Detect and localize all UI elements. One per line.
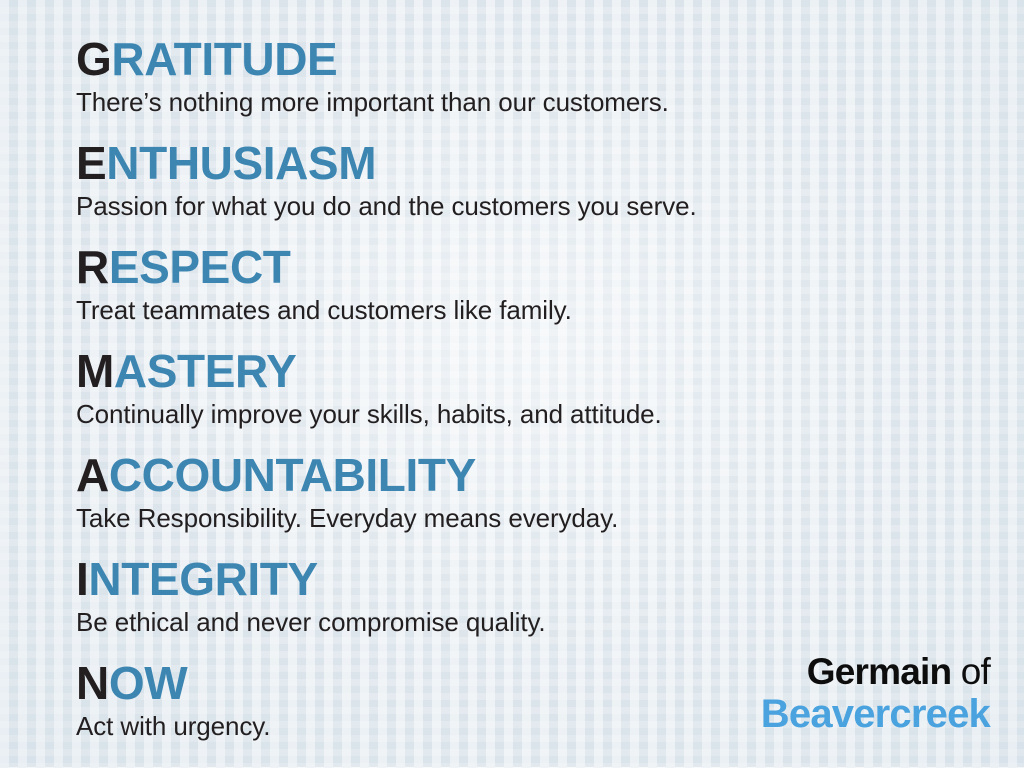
value-description-enthusiasm: Passion for what you do and the customer… [76, 190, 697, 222]
value-block-mastery: MASTERY Continually improve your skills,… [76, 346, 697, 430]
value-heading-enthusiasm: ENTHUSIASM [76, 138, 697, 188]
value-remaining-letters: RATITUDE [111, 33, 337, 85]
value-block-now: NOW Act with urgency. [76, 658, 697, 742]
slide-canvas: GRATITUDE There’s nothing more important… [0, 0, 1024, 768]
logo-brand-name: Germain [807, 651, 952, 692]
value-initial-letter: R [76, 241, 109, 293]
value-block-gratitude: GRATITUDE There’s nothing more important… [76, 34, 697, 118]
value-remaining-letters: NTHUSIASM [106, 137, 376, 189]
value-block-respect: RESPECT Treat teammates and customers li… [76, 242, 697, 326]
value-block-enthusiasm: ENTHUSIASM Passion for what you do and t… [76, 138, 697, 222]
value-remaining-letters: NTEGRITY [88, 553, 317, 605]
value-heading-respect: RESPECT [76, 242, 697, 292]
value-initial-letter: G [76, 33, 111, 85]
value-heading-mastery: MASTERY [76, 346, 697, 396]
logo-connector: of [961, 651, 990, 692]
value-remaining-letters: ASTERY [114, 345, 296, 397]
logo-connector-word [951, 651, 960, 692]
value-description-gratitude: There’s nothing more important than our … [76, 86, 697, 118]
value-description-now: Act with urgency. [76, 710, 697, 742]
value-heading-now: NOW [76, 658, 697, 708]
value-initial-letter: N [76, 657, 109, 709]
value-heading-gratitude: GRATITUDE [76, 34, 697, 84]
value-description-integrity: Be ethical and never compromise quality. [76, 606, 697, 638]
value-heading-accountability: ACCOUNTABILITY [76, 450, 697, 500]
value-initial-letter: M [76, 345, 114, 397]
logo-top-line: Germain of [761, 652, 990, 692]
core-values-list: GRATITUDE There’s nothing more important… [76, 34, 697, 742]
value-remaining-letters: OW [109, 657, 187, 709]
value-description-respect: Treat teammates and customers like famil… [76, 294, 697, 326]
value-initial-letter: A [76, 449, 109, 501]
logo-location-name: Beavercreek [761, 692, 990, 736]
value-initial-letter: E [76, 137, 106, 189]
value-block-integrity: INTEGRITY Be ethical and never compromis… [76, 554, 697, 638]
value-remaining-letters: CCOUNTABILITY [109, 449, 476, 501]
value-heading-integrity: INTEGRITY [76, 554, 697, 604]
dealership-logo: Germain of Beavercreek [761, 652, 990, 736]
value-initial-letter: I [76, 553, 88, 605]
value-description-mastery: Continually improve your skills, habits,… [76, 398, 697, 430]
value-description-accountability: Take Responsibility. Everyday means ever… [76, 502, 697, 534]
value-remaining-letters: ESPECT [109, 241, 291, 293]
value-block-accountability: ACCOUNTABILITY Take Responsibility. Ever… [76, 450, 697, 534]
